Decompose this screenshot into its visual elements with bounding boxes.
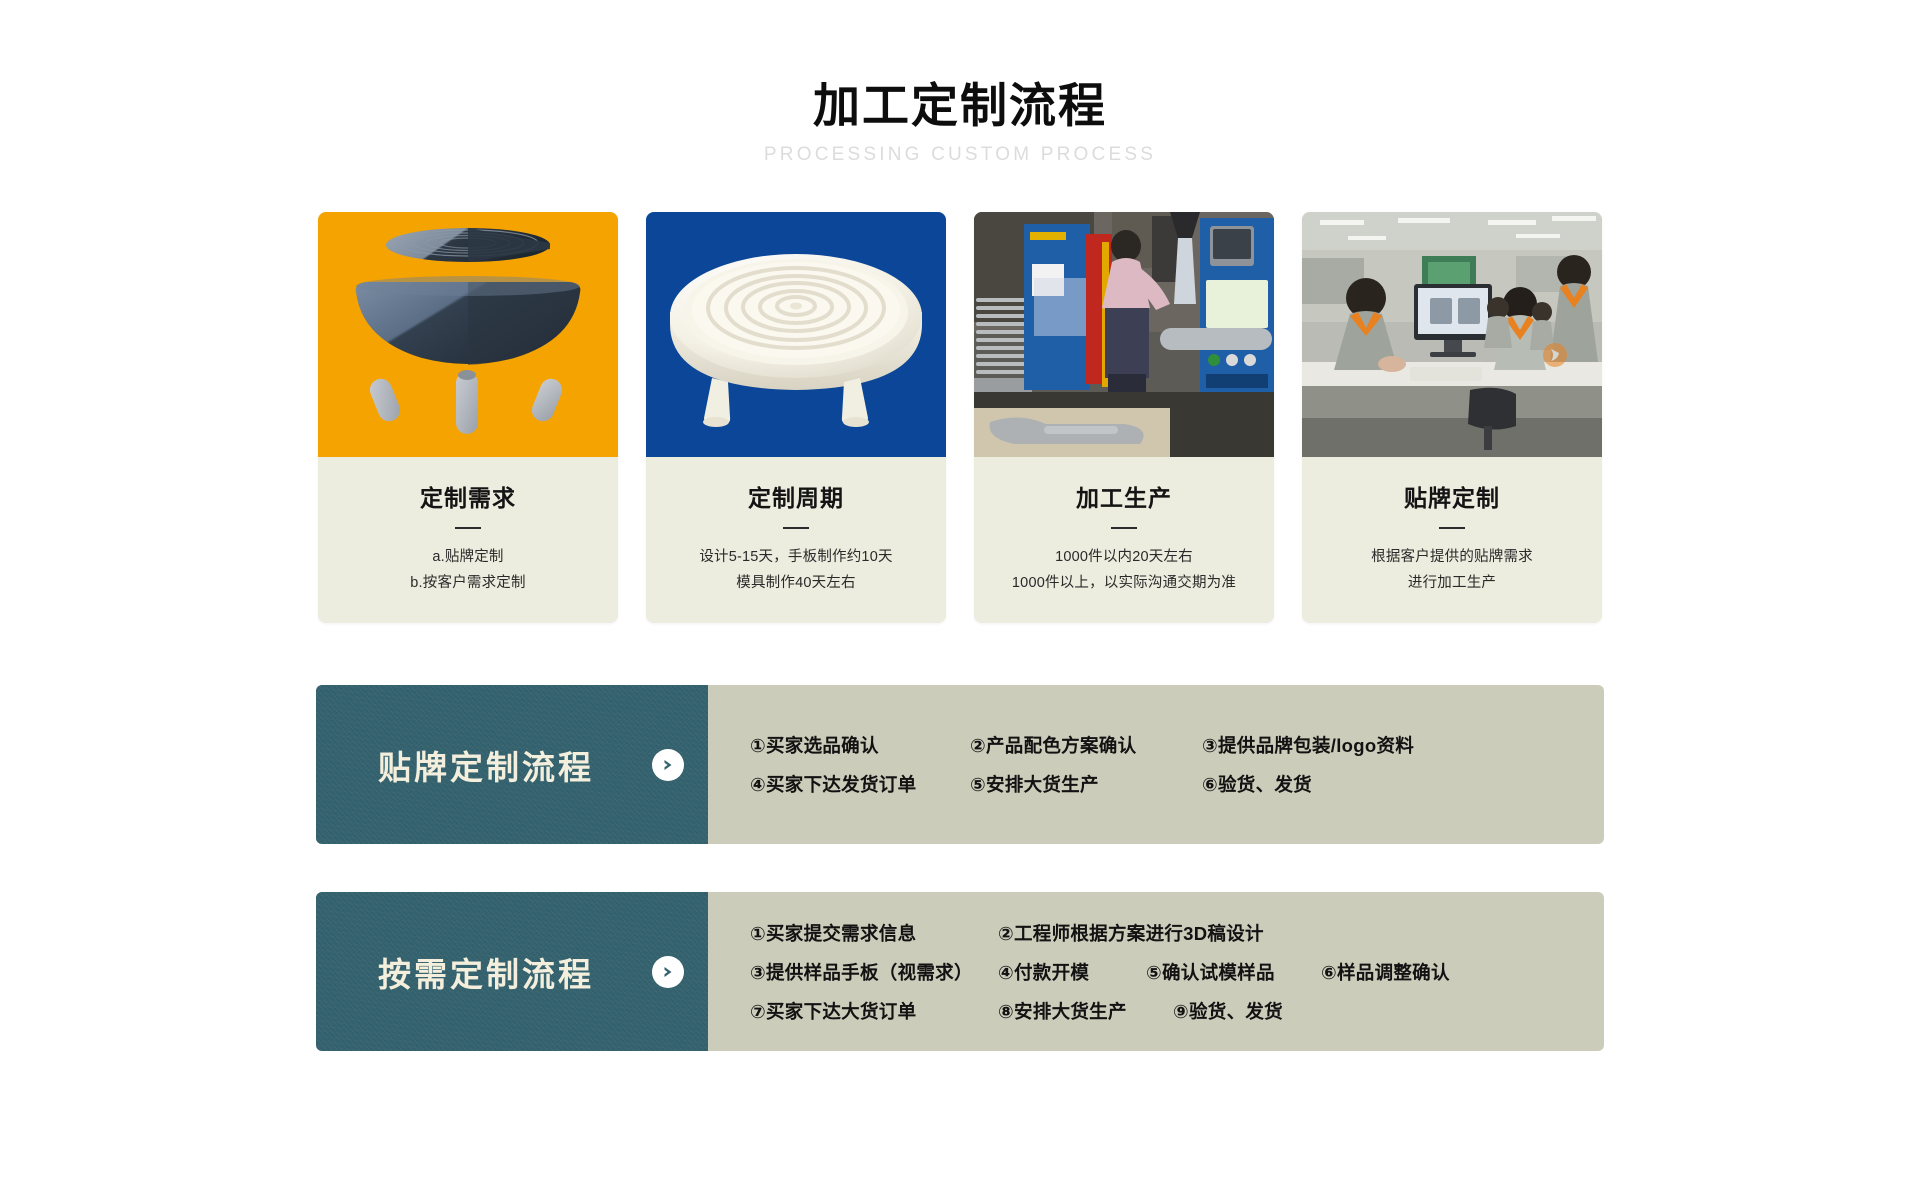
card-divider — [783, 527, 809, 529]
process-cards: 定制需求 a.贴牌定制 b.按客户需求定制 — [0, 212, 1920, 623]
card-description: 设计5-15天，手板制作约10天 模具制作40天左右 — [660, 545, 932, 597]
card-description: a.贴牌定制 b.按客户需求定制 — [332, 545, 604, 597]
card-title: 贴牌定制 — [1316, 479, 1588, 513]
card-desc-line: 1000件以上，以实际沟通交期为准 — [988, 571, 1260, 597]
ondemand-process-banner: 按需定制流程 ①买家提交需求信息 ②工程师根据方案进行3D稿设计 ③提供样品手板… — [316, 892, 1604, 1051]
card-body: 定制周期 设计5-15天，手板制作约10天 模具制作40天左右 — [646, 457, 946, 623]
process-step: ⑤确认试模样品 — [1146, 959, 1321, 985]
process-step: ⑦买家下达大货订单 — [750, 998, 998, 1024]
banner-steps: ①买家选品确认 ②产品配色方案确认 ③提供品牌包装/logo资料 ④买家下达发货… — [708, 685, 1604, 844]
card-media-white-prototype — [646, 212, 946, 457]
process-step: ⑥验货、发货 — [1202, 771, 1312, 797]
banner-label: 按需定制流程 — [316, 892, 708, 1051]
process-step: ②工程师根据方案进行3D稿设计 — [998, 920, 1264, 946]
process-step: ②产品配色方案确认 — [970, 732, 1202, 758]
card-body: 定制需求 a.贴牌定制 b.按客户需求定制 — [318, 457, 618, 623]
card-divider — [1439, 527, 1465, 529]
process-step: ⑥样品调整确认 — [1321, 959, 1450, 985]
card-desc-line: 设计5-15天，手板制作约10天 — [660, 545, 932, 571]
process-card[interactable]: 定制需求 a.贴牌定制 b.按客户需求定制 — [318, 212, 618, 623]
card-description: 1000件以内20天左右 1000件以上，以实际沟通交期为准 — [988, 545, 1260, 597]
steps-row: ⑦买家下达大货订单 ⑧安排大货生产 ⑨验货、发货 — [750, 998, 1578, 1024]
card-divider — [1111, 527, 1137, 529]
process-step: ④付款开模 — [998, 959, 1146, 985]
banner-label-text: 按需定制流程 — [378, 948, 646, 996]
process-card[interactable]: 贴牌定制 根据客户提供的贴牌需求 进行加工生产 — [1302, 212, 1602, 623]
steps-row: ④买家下达发货订单 ⑤安排大货生产 ⑥验货、发货 — [750, 771, 1578, 797]
card-desc-line: 模具制作40天左右 — [660, 571, 932, 597]
card-desc-line: b.按客户需求定制 — [332, 571, 604, 597]
page-header: 加工定制流程 PROCESSING CUSTOM PROCESS — [0, 0, 1920, 166]
process-step: ⑧安排大货生产 — [998, 998, 1173, 1024]
banner-label: 贴牌定制流程 — [316, 685, 708, 844]
process-step: ⑨验货、发货 — [1173, 998, 1283, 1024]
chevron-right-icon[interactable] — [652, 956, 684, 988]
card-body: 贴牌定制 根据客户提供的贴牌需求 进行加工生产 — [1302, 457, 1602, 623]
process-step: ④买家下达发货订单 — [750, 771, 970, 797]
card-title: 定制周期 — [660, 479, 932, 513]
page-root: 加工定制流程 PROCESSING CUSTOM PROCESS — [0, 0, 1920, 1200]
card-desc-line: 1000件以内20天左右 — [988, 545, 1260, 571]
card-media-factory-machine — [974, 212, 1274, 457]
process-card[interactable]: 定制周期 设计5-15天，手板制作约10天 模具制作40天左右 — [646, 212, 946, 623]
process-step: ①买家选品确认 — [750, 732, 970, 758]
page-title: 加工定制流程 — [0, 78, 1920, 133]
process-banners: 贴牌定制流程 ①买家选品确认 ②产品配色方案确认 ③提供品牌包装/logo资料 … — [0, 685, 1920, 1051]
chevron-right-icon[interactable] — [652, 749, 684, 781]
process-step: ③提供样品手板（视需求） — [750, 959, 998, 985]
steps-row: ①买家选品确认 ②产品配色方案确认 ③提供品牌包装/logo资料 — [750, 732, 1578, 758]
card-desc-line: 根据客户提供的贴牌需求 — [1316, 545, 1588, 571]
banner-label-text: 贴牌定制流程 — [378, 741, 646, 789]
card-desc-line: a.贴牌定制 — [332, 545, 604, 571]
card-desc-line: 进行加工生产 — [1316, 571, 1588, 597]
card-media-design-office — [1302, 212, 1602, 457]
page-subtitle: PROCESSING CUSTOM PROCESS — [0, 144, 1920, 166]
card-body: 加工生产 1000件以内20天左右 1000件以上，以实际沟通交期为准 — [974, 457, 1274, 623]
steps-row: ①买家提交需求信息 ②工程师根据方案进行3D稿设计 — [750, 920, 1578, 946]
banner-steps: ①买家提交需求信息 ②工程师根据方案进行3D稿设计 ③提供样品手板（视需求） ④… — [708, 892, 1604, 1051]
process-step: ③提供品牌包装/logo资料 — [1202, 732, 1414, 758]
card-title: 加工生产 — [988, 479, 1260, 513]
process-card[interactable]: 加工生产 1000件以内20天左右 1000件以上，以实际沟通交期为准 — [974, 212, 1274, 623]
process-step: ①买家提交需求信息 — [750, 920, 998, 946]
card-title: 定制需求 — [332, 479, 604, 513]
card-divider — [455, 527, 481, 529]
card-description: 根据客户提供的贴牌需求 进行加工生产 — [1316, 545, 1588, 597]
oem-process-banner: 贴牌定制流程 ①买家选品确认 ②产品配色方案确认 ③提供品牌包装/logo资料 … — [316, 685, 1604, 844]
card-media-exploded-render — [318, 212, 618, 457]
steps-row: ③提供样品手板（视需求） ④付款开模 ⑤确认试模样品 ⑥样品调整确认 — [750, 959, 1578, 985]
process-step: ⑤安排大货生产 — [970, 771, 1202, 797]
